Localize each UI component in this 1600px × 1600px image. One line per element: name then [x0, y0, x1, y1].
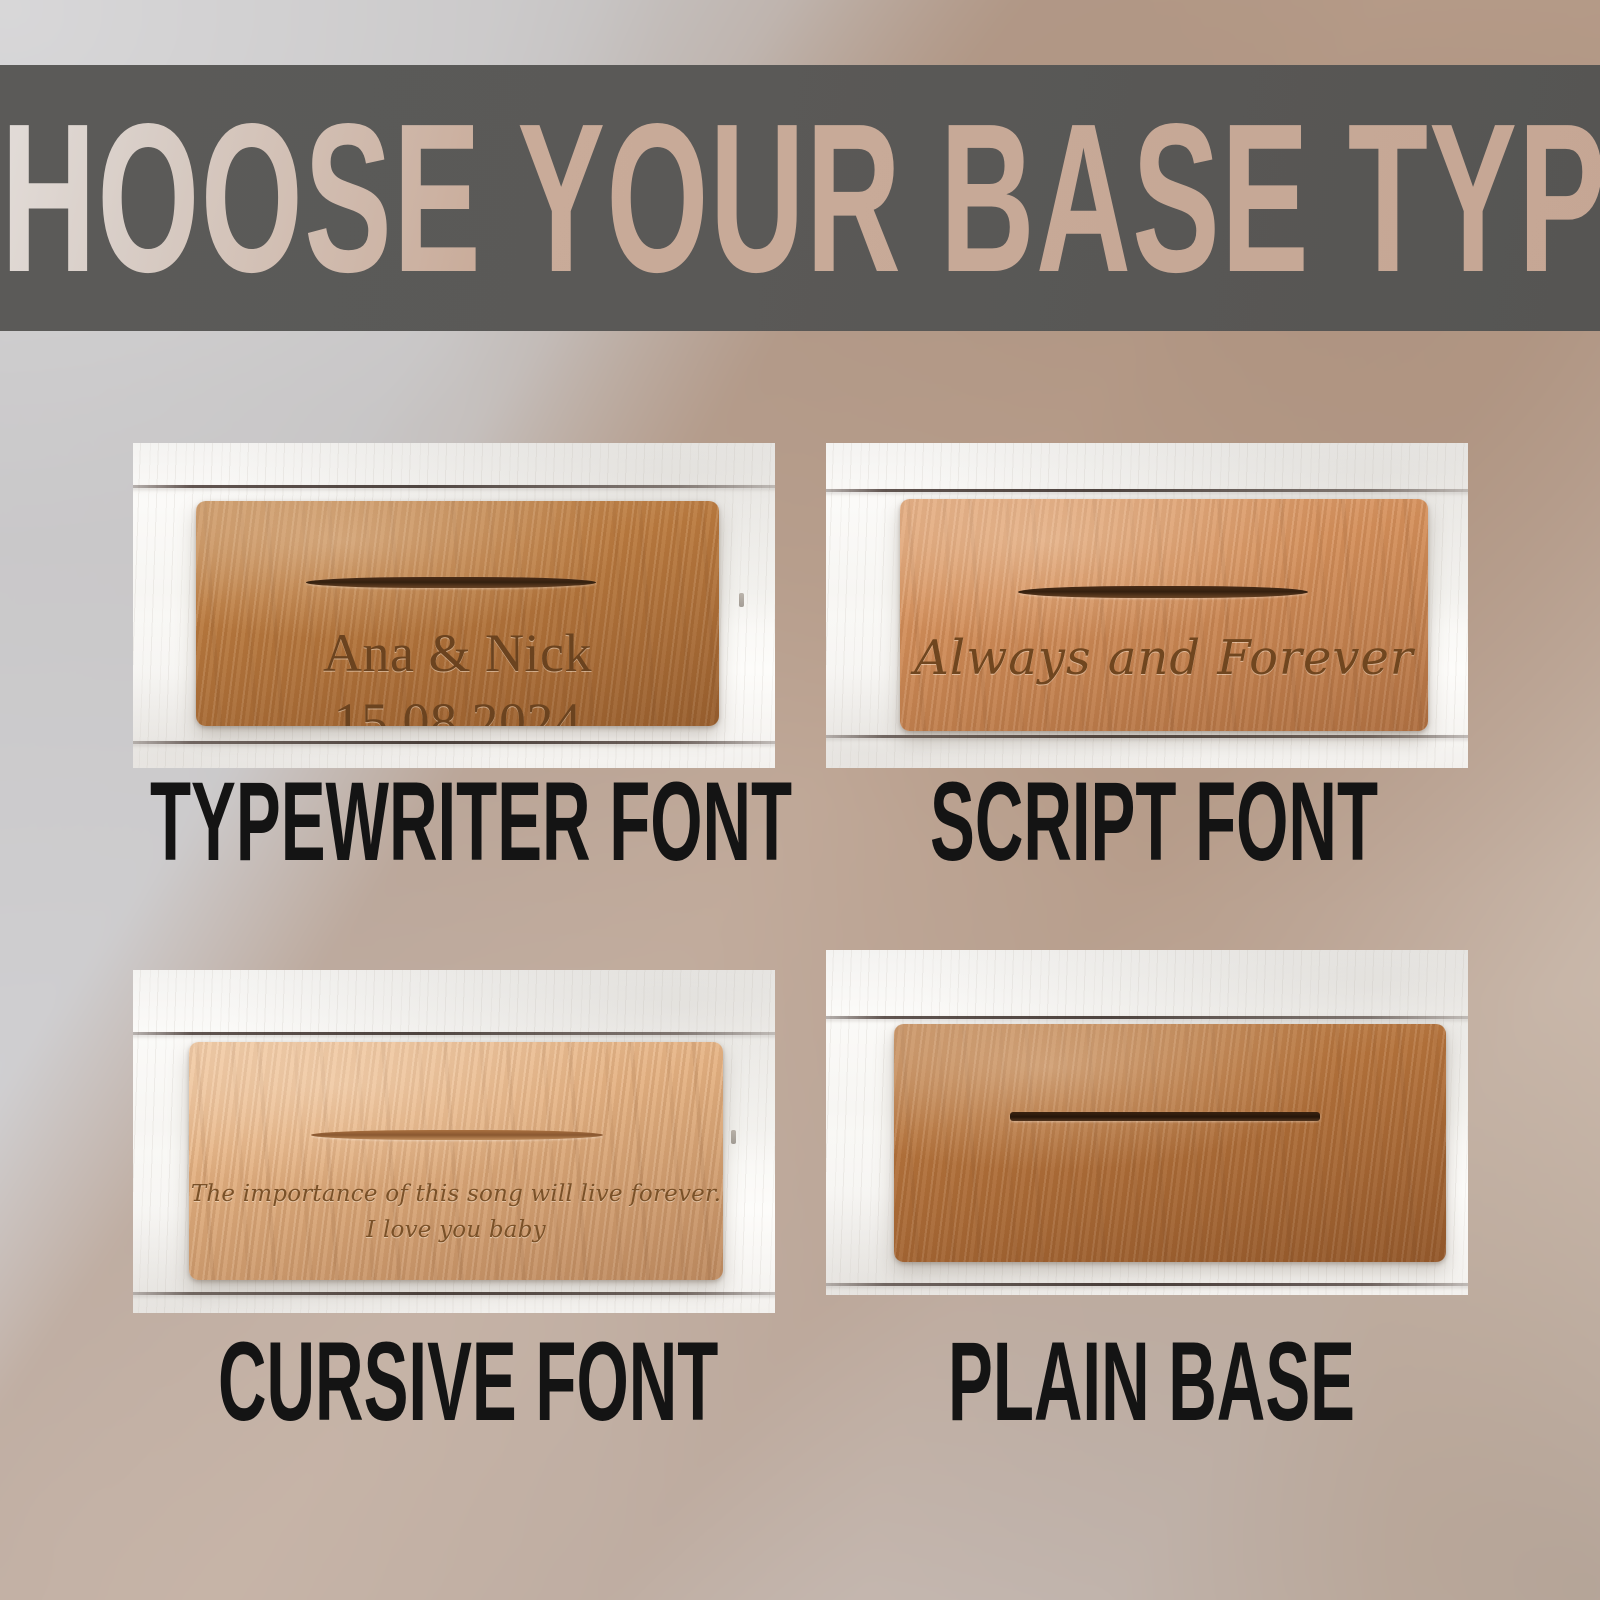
- block-highlight: [900, 499, 1428, 731]
- page-title: CHOOSE YOUR BASE TYPE: [0, 115, 1600, 280]
- wooden-base-block: Always and Forever: [900, 499, 1428, 731]
- product-photo-script: Always and Forever: [826, 443, 1468, 768]
- caption-plain: PLAIN BASE: [948, 1326, 1355, 1438]
- header-band: CHOOSE YOUR BASE TYPE: [0, 65, 1600, 331]
- caption-typewriter: TYPEWRITER FONT: [150, 766, 792, 878]
- crank-slot: [306, 577, 596, 588]
- block-highlight: [189, 1042, 723, 1280]
- wooden-base-block: [894, 1024, 1446, 1262]
- crank-slot: [1018, 586, 1308, 598]
- product-photo-typewriter: Ana & Nick 15.08.2024: [133, 443, 775, 768]
- wooden-base-block: Ana & Nick 15.08.2024: [196, 501, 719, 726]
- caption-cursive: CURSIVE FONT: [218, 1326, 718, 1438]
- option-tile-script[interactable]: Always and Forever: [826, 443, 1468, 768]
- option-tile-plain[interactable]: [826, 950, 1468, 1295]
- product-photo-cursive: The importance of this song will live fo…: [133, 970, 775, 1313]
- product-photo-plain: [826, 950, 1468, 1295]
- crank-slot: [311, 1130, 603, 1140]
- option-tile-cursive[interactable]: The importance of this song will live fo…: [133, 970, 775, 1313]
- block-highlight: [196, 501, 719, 726]
- block-highlight: [894, 1024, 1446, 1262]
- caption-script: SCRIPT FONT: [930, 766, 1378, 878]
- option-tile-typewriter[interactable]: Ana & Nick 15.08.2024: [133, 443, 775, 768]
- crank-slot: [1010, 1112, 1320, 1121]
- wooden-base-block: The importance of this song will live fo…: [189, 1042, 723, 1280]
